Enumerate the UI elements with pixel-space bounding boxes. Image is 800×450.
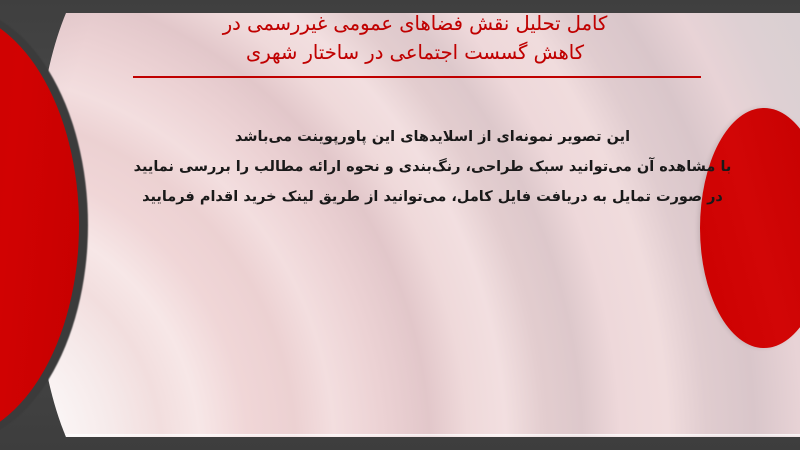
slide-title-line-1: کامل تحلیل نقش فضاهای عمومی غیررسمی در [110, 9, 720, 38]
slide-body-line-2: با مشاهده آن می‌توانید سبک طراحی، رنگ‌بن… [120, 152, 745, 182]
slide-body-line-1: این تصویر نمونه‌ای از اسلایدهای این پاور… [120, 122, 745, 152]
presentation-slide: کامل تحلیل نقش فضاهای عمومی غیررسمی در ک… [0, 0, 800, 450]
slide-body-line-3: در صورت تمایل به دریافت فایل کامل، می‌تو… [120, 182, 745, 212]
slide-title-underline [133, 76, 701, 78]
slide-body-text: این تصویر نمونه‌ای از اسلایدهای این پاور… [120, 122, 745, 212]
panel-bottom-highlight [0, 434, 800, 437]
slide-title-line-2: کاهش گسست اجتماعی در ساختار شهری [110, 38, 720, 67]
slide-title: کامل تحلیل نقش فضاهای عمومی غیررسمی در ک… [110, 9, 720, 67]
